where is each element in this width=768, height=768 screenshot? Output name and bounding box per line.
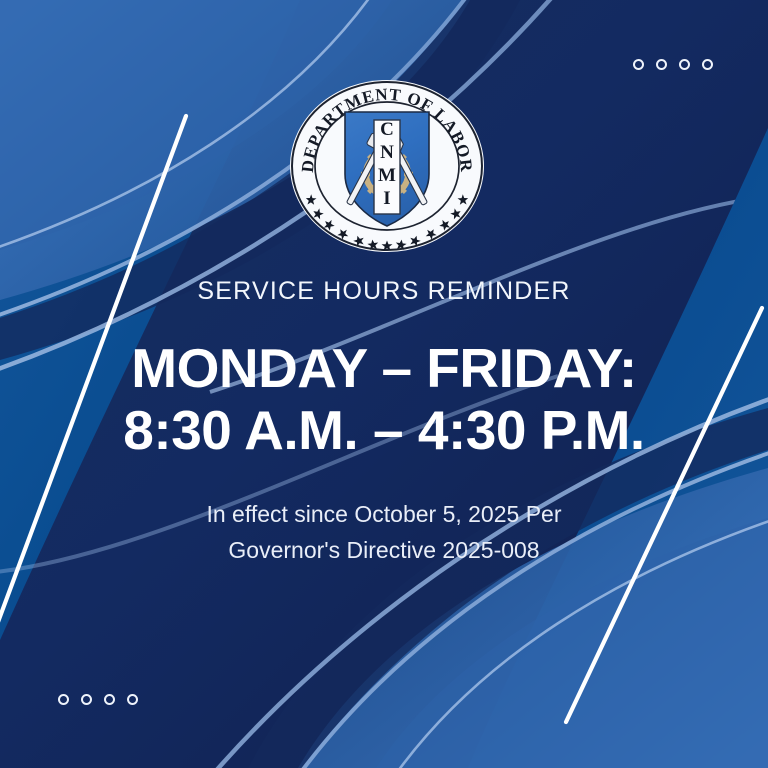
cnmi-banner: C N M I [374, 119, 400, 214]
cnmi-letter-m: M [378, 165, 396, 186]
dot-icon [104, 694, 115, 705]
subtext-block: In effect since October 5, 2025 Per Gove… [0, 497, 768, 568]
eyebrow-label: SERVICE HOURS REMINDER [0, 276, 768, 306]
cnmi-letter-c: C [380, 119, 394, 140]
poster-content: SERVICE HOURS REMINDER MONDAY – FRIDAY: … [0, 276, 768, 568]
page-title: MONDAY – FRIDAY: 8:30 A.M. – 4:30 P.M. [0, 338, 768, 461]
cnmi-letter-n: N [380, 142, 394, 163]
dot-icon [679, 59, 690, 70]
headline-line-1: MONDAY – FRIDAY: [0, 338, 768, 400]
dot-icon [127, 694, 138, 705]
headline-line-2: 8:30 A.M. – 4:30 P.M. [0, 400, 768, 462]
dot-row-top-right [633, 59, 713, 70]
dot-icon [633, 59, 644, 70]
dot-row-bottom-left [58, 694, 138, 705]
cnmi-letter-i: I [383, 188, 390, 209]
subtext-line-1: In effect since October 5, 2025 Per [0, 497, 768, 533]
dot-icon [81, 694, 92, 705]
poster-canvas: DEPARTMENT OF LABOR [0, 0, 768, 768]
dot-icon [702, 59, 713, 70]
dot-icon [58, 694, 69, 705]
dot-icon [656, 59, 667, 70]
subtext-line-2: Governor's Directive 2025-008 [0, 533, 768, 569]
department-of-labor-seal: DEPARTMENT OF LABOR [287, 78, 487, 254]
